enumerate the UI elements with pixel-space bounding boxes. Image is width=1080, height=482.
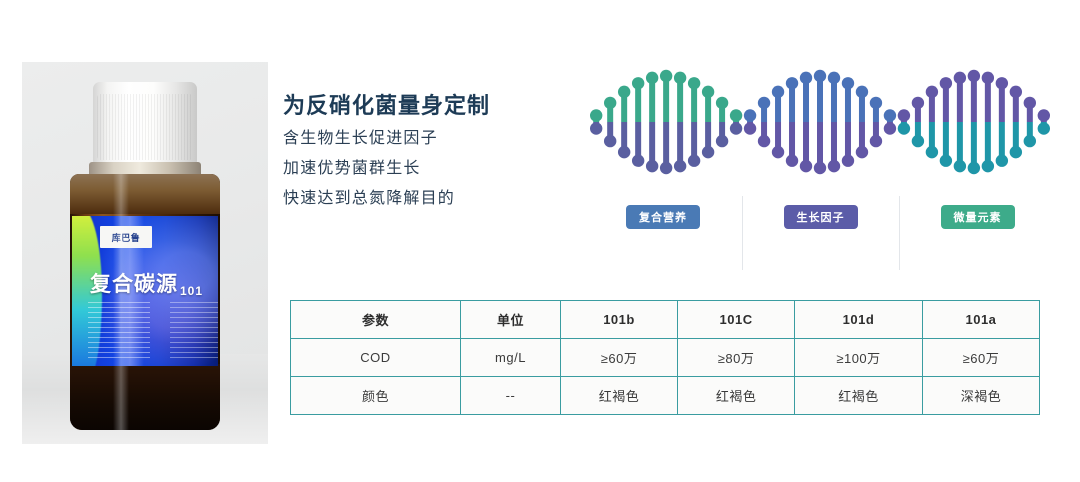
cell-color-101b: 红褐色 [561, 377, 678, 415]
bottle-label: 库巴鲁 复合碳源 101 [72, 216, 218, 366]
subtitle-line-1: 含生物生长促进因子 [283, 124, 455, 154]
cell-color-101a: 深褐色 [922, 377, 1039, 415]
header-cell-parameter: 参数 [291, 301, 461, 339]
badge-compound-nutrition[interactable]: 复合营养 [626, 205, 700, 229]
cell-cod-unit: mg/L [461, 339, 561, 377]
product-photo: 库巴鲁 复合碳源 101 [22, 62, 268, 444]
page-title: 为反硝化菌量身定制 [283, 88, 490, 120]
header-cell-101d: 101d [795, 301, 923, 339]
specification-table: 参数 单位 101b 101C 101d 101a COD mg/L ≥60万 … [290, 300, 1040, 415]
dna-helix-icon [585, 58, 1055, 186]
badge-trace-element[interactable]: 微量元素 [941, 205, 1015, 229]
header-cell-101a: 101a [922, 301, 1039, 339]
feature-badge-row: 复合营养 生长因子 微量元素 [585, 196, 1055, 270]
cell-color-label: 颜色 [291, 377, 461, 415]
cell-cod-101d: ≥100万 [795, 339, 923, 377]
badge-column-3: 微量元素 [899, 196, 1055, 270]
cell-cod-label: COD [291, 339, 461, 377]
bottle-body: 库巴鲁 复合碳源 101 [70, 174, 220, 430]
badge-column-2: 生长因子 [742, 196, 898, 270]
product-bottle: 库巴鲁 复合碳源 101 [57, 82, 233, 430]
brand-name: 库巴鲁 [112, 231, 141, 244]
subtitle-line-3: 快速达到总氮降解目的 [283, 184, 455, 214]
brand-logo-box: 库巴鲁 [100, 226, 152, 248]
label-code: 101 [180, 284, 203, 298]
header-cell-101b: 101b [561, 301, 678, 339]
table-row: COD mg/L ≥60万 ≥80万 ≥100万 ≥60万 [291, 339, 1040, 377]
label-fineprint-right [170, 302, 218, 358]
cell-color-unit: -- [461, 377, 561, 415]
label-fineprint-left [88, 302, 150, 358]
subtitle-block: 含生物生长促进因子 加速优势菌群生长 快速达到总氮降解目的 [283, 124, 455, 214]
bottle-cap [93, 82, 197, 166]
liquid-surface [70, 174, 220, 214]
table-header-row: 参数 单位 101b 101C 101d 101a [291, 301, 1040, 339]
table-body: 参数 单位 101b 101C 101d 101a COD mg/L ≥60万 … [291, 301, 1040, 415]
label-title-group: 复合碳源 101 [90, 268, 203, 298]
header-cell-unit: 单位 [461, 301, 561, 339]
cell-cod-101a: ≥60万 [922, 339, 1039, 377]
subtitle-line-2: 加速优势菌群生长 [283, 154, 455, 184]
table-row: 颜色 -- 红褐色 红褐色 红褐色 深褐色 [291, 377, 1040, 415]
badge-column-1: 复合营养 [585, 196, 741, 270]
cell-cod-101c: ≥80万 [678, 339, 795, 377]
cell-color-101c: 红褐色 [678, 377, 795, 415]
cell-cod-101b: ≥60万 [561, 339, 678, 377]
cell-color-101d: 红褐色 [795, 377, 923, 415]
liquid-sediment [70, 364, 220, 430]
header-cell-101c: 101C [678, 301, 795, 339]
badge-growth-factor[interactable]: 生长因子 [784, 205, 858, 229]
label-title: 复合碳源 [90, 268, 178, 298]
